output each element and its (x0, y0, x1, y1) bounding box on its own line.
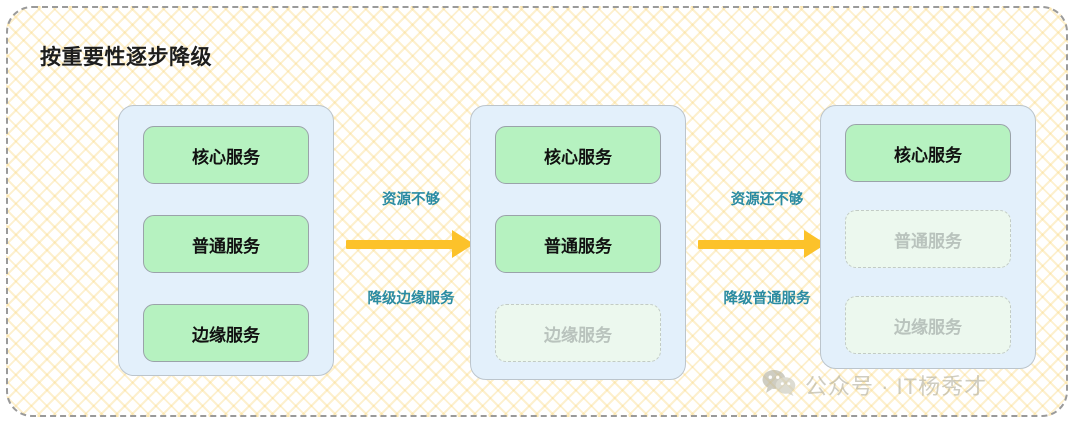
transition-1-bottom-label: 降级边缘服务 (346, 287, 476, 308)
stage-1-service-normal[interactable]: 普通服务 (143, 215, 309, 273)
stage-2-service-edge[interactable]: 边缘服务 (495, 304, 661, 362)
transition-1-arrow-shaft (346, 240, 454, 249)
stage-1-service-edge[interactable]: 边缘服务 (143, 304, 309, 362)
transition-2-bottom-label: 降级普通服务 (698, 287, 836, 308)
stage-1-container: 核心服务 普通服务 边缘服务 (118, 105, 334, 376)
stage-3-service-edge[interactable]: 边缘服务 (845, 296, 1011, 354)
transition-2: 资源还不够 降级普通服务 (698, 188, 836, 308)
transition-2-arrow-shaft (698, 240, 806, 249)
service-label: 边缘服务 (192, 321, 260, 346)
transition-2-top-label: 资源还不够 (698, 188, 836, 209)
service-label: 核心服务 (192, 143, 260, 168)
transition-1-top-label: 资源不够 (346, 188, 476, 209)
stage-1-service-core[interactable]: 核心服务 (143, 126, 309, 184)
service-label: 核心服务 (894, 141, 962, 166)
service-label: 边缘服务 (544, 321, 612, 346)
transition-1: 资源不够 降级边缘服务 (346, 188, 476, 308)
stage-3-service-core[interactable]: 核心服务 (845, 124, 1011, 182)
service-label: 边缘服务 (894, 313, 962, 338)
stage-2-service-core[interactable]: 核心服务 (495, 126, 661, 184)
stage-3-container: 核心服务 普通服务 边缘服务 (820, 105, 1036, 369)
service-label: 核心服务 (544, 143, 612, 168)
stage-2-service-normal[interactable]: 普通服务 (495, 215, 661, 273)
page-title: 按重要性逐步降级 (40, 41, 212, 71)
stage-2-container: 核心服务 普通服务 边缘服务 (470, 105, 686, 380)
service-label: 普通服务 (544, 232, 612, 257)
service-label: 普通服务 (192, 232, 260, 257)
diagram-frame: 按重要性逐步降级 核心服务 普通服务 边缘服务 资源不够 降级边缘服务 核心服务 (6, 6, 1068, 417)
service-label: 普通服务 (894, 227, 962, 252)
stage-3-service-normal[interactable]: 普通服务 (845, 210, 1011, 268)
diagram-canvas: 按重要性逐步降级 核心服务 普通服务 边缘服务 资源不够 降级边缘服务 核心服务 (0, 0, 1080, 429)
